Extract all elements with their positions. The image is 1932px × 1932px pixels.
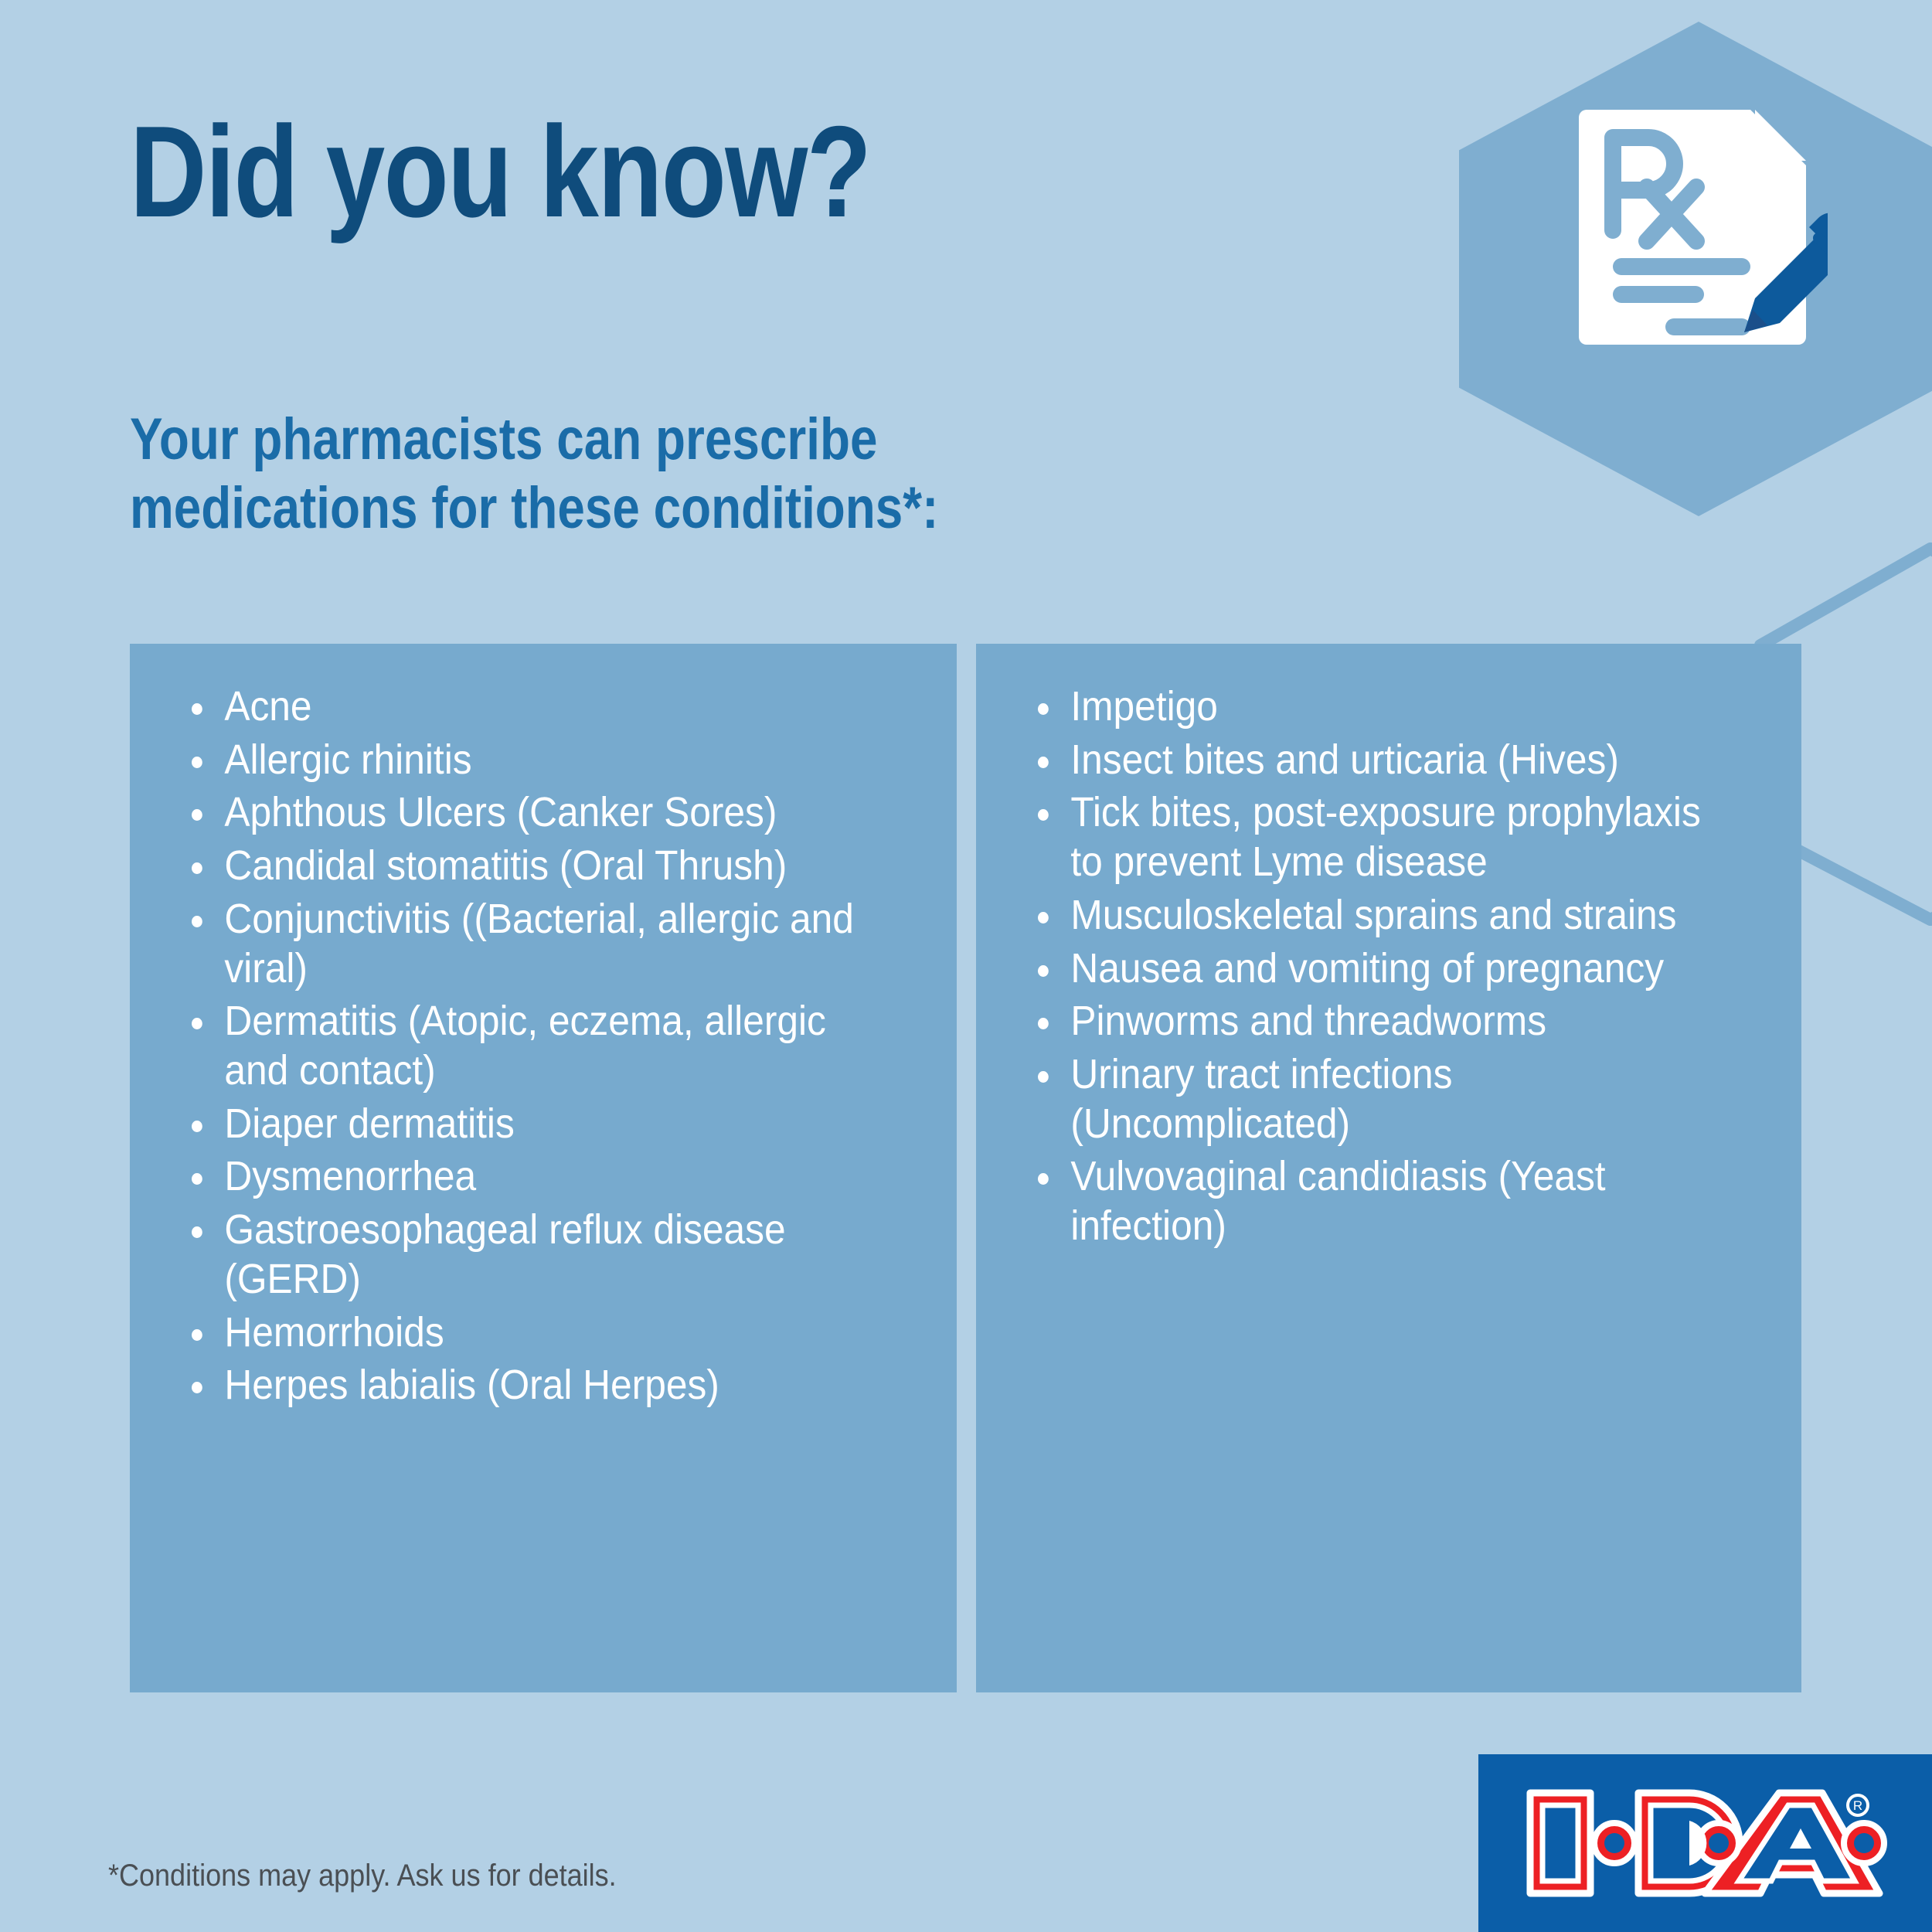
infographic-canvas: Did you know? Your pharmacists can presc… [0,0,1932,1932]
page-subtitle-line-1: Your pharmacists can prescribe [130,406,938,474]
bullet-icon [192,1226,202,1238]
condition-label: Conjunctivitis ((Bacterial, allergic and… [224,896,854,992]
condition-label: Herpes labialis (Oral Herpes) [224,1362,719,1408]
bullet-icon [1038,912,1049,923]
condition-list-item: Impetigo [1038,682,1712,732]
condition-label: Vulvovaginal candidiasis (Yeast infectio… [1070,1153,1605,1249]
condition-list-item: Acne [192,682,867,732]
bullet-icon [1038,1071,1049,1083]
svg-text:R: R [1852,1798,1862,1813]
condition-list-item: Candidal stomatitis (Oral Thrush) [192,842,867,891]
condition-list-item: Diaper dermatitis [192,1100,867,1149]
condition-label: Candidal stomatitis (Oral Thrush) [224,842,787,889]
condition-label: Acne [224,683,311,730]
bullet-icon [1038,703,1049,715]
condition-label: Aphthous Ulcers (Canker Sores) [224,789,777,835]
condition-list-item: Dermatitis (Atopic, eczema, allergic and… [192,997,867,1095]
bullet-icon [1038,809,1049,821]
registered-trademark-icon: R [1848,1795,1868,1815]
condition-label: Nausea and vomiting of pregnancy [1070,945,1664,992]
bullet-icon [1038,1018,1049,1029]
condition-list-item: Insect bites and urticaria (Hives) [1038,736,1712,785]
ida-logo: R [1478,1754,1932,1932]
bullet-icon [192,916,202,927]
condition-list-item: Vulvovaginal candidiasis (Yeast infectio… [1038,1152,1712,1250]
bullet-icon [192,1382,202,1393]
bullet-icon [192,1329,202,1341]
bullet-icon [192,809,202,821]
conditions-panel-left: AcneAllergic rhinitisAphthous Ulcers (Ca… [130,644,957,1692]
bullet-icon [192,1121,202,1132]
condition-label: Gastroesophageal reflux disease (GERD) [224,1206,785,1302]
conditions-list-left: AcneAllergic rhinitisAphthous Ulcers (Ca… [130,644,957,1410]
condition-list-item: Conjunctivitis ((Bacterial, allergic and… [192,895,867,993]
condition-list-item: Dysmenorrhea [192,1152,867,1202]
prescription-rx-document-pen-icon [1573,100,1828,355]
condition-label: Hemorrhoids [224,1309,444,1355]
bullet-icon [1038,757,1049,768]
condition-list-item: Nausea and vomiting of pregnancy [1038,944,1712,994]
condition-list-item: Allergic rhinitis [192,736,867,785]
condition-label: Musculoskeletal sprains and strains [1070,892,1676,938]
bullet-icon [192,757,202,768]
condition-label: Allergic rhinitis [224,736,471,783]
condition-list-item: Aphthous Ulcers (Canker Sores) [192,788,867,838]
condition-list-item: Tick bites, post-exposure prophylaxis to… [1038,788,1712,886]
condition-label: Impetigo [1070,683,1218,730]
condition-label: Dermatitis (Atopic, eczema, allergic and… [224,998,826,1094]
condition-list-item: Herpes labialis (Oral Herpes) [192,1361,867,1410]
bullet-icon [1038,1173,1049,1185]
bullet-icon [192,703,202,715]
bullet-icon [192,862,202,874]
condition-list-item: Musculoskeletal sprains and strains [1038,891,1712,940]
condition-label: Diaper dermatitis [224,1100,514,1147]
condition-label: Urinary tract infections (Uncomplicated) [1070,1051,1452,1147]
conditions-list-right: ImpetigoInsect bites and urticaria (Hive… [976,644,1801,1251]
condition-list-item: Gastroesophageal reflux disease (GERD) [192,1206,867,1304]
page-subtitle-line-2: medications for these conditions*: [130,474,938,543]
condition-label: Dysmenorrhea [224,1153,476,1199]
page-title: Did you know? [130,107,870,236]
condition-label: Tick bites, post-exposure prophylaxis to… [1070,789,1700,885]
condition-list-item: Pinworms and threadworms [1038,997,1712,1046]
condition-label: Insect bites and urticaria (Hives) [1070,736,1619,783]
condition-list-item: Hemorrhoids [192,1308,867,1358]
page-subtitle: Your pharmacists can prescribe medicatio… [130,406,938,543]
bullet-icon [192,1018,202,1029]
disclaimer-footnote: *Conditions may apply. Ask us for detail… [108,1859,617,1893]
condition-list-item: Urinary tract infections (Uncomplicated) [1038,1050,1712,1148]
bullet-icon [192,1173,202,1185]
bullet-icon [1038,965,1049,977]
condition-label: Pinworms and threadworms [1070,998,1546,1044]
conditions-panel-right: ImpetigoInsect bites and urticaria (Hive… [976,644,1801,1692]
